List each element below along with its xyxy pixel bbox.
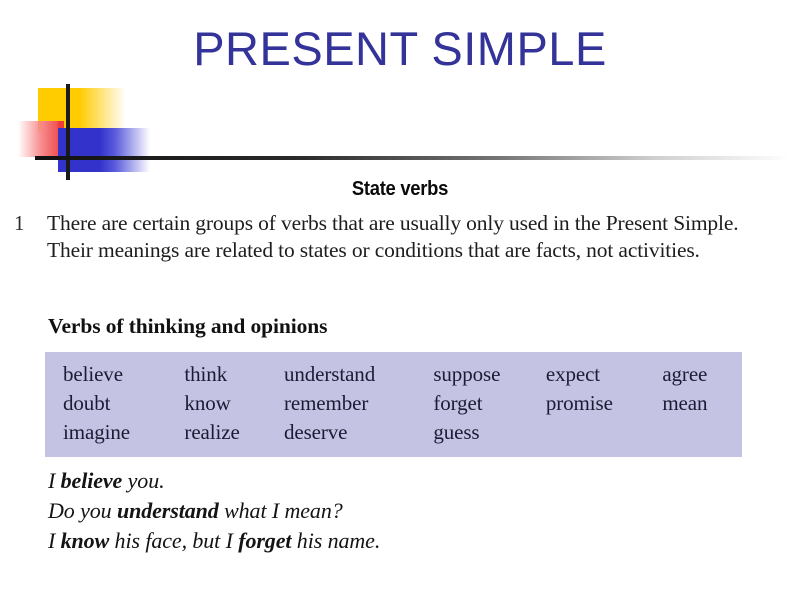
slide-canvas: PRESENT SIMPLE State verbs 1 There are c…: [0, 0, 800, 600]
verb-table: believe think understand suppose expect …: [63, 360, 742, 447]
group-heading: Verbs of thinking and opinions: [48, 314, 327, 339]
section-heading: State verbs: [32, 178, 768, 201]
verb-cell: expect: [546, 360, 662, 389]
verb-cell: promise: [546, 389, 662, 418]
verb-cell: know: [184, 389, 284, 418]
example-sentence-3: I know his face, but I forget his name.: [48, 526, 748, 556]
example-3-verb-2: forget: [238, 528, 291, 553]
deco-horizontal-rule: [35, 156, 790, 160]
intro-paragraph-text: There are certain groups of verbs that a…: [47, 210, 750, 264]
verb-cell: understand: [284, 360, 433, 389]
verb-cell: imagine: [63, 418, 184, 447]
example-3-pre: I: [48, 528, 61, 553]
table-row: doubt know remember forget promise mean: [63, 389, 742, 418]
verb-cell: doubt: [63, 389, 184, 418]
deco-vertical-rule: [66, 84, 70, 180]
verb-cell: realize: [184, 418, 284, 447]
example-1-pre: I: [48, 468, 61, 493]
verb-cell: guess: [433, 418, 546, 447]
example-3-post: his name.: [291, 528, 380, 553]
deco-blue-square: [58, 128, 100, 172]
table-row: imagine realize deserve guess: [63, 418, 742, 447]
example-1-post: you.: [122, 468, 164, 493]
verb-cell: [546, 418, 662, 447]
verb-cell: believe: [63, 360, 184, 389]
verb-cell: deserve: [284, 418, 433, 447]
example-sentences: I believe you. Do you understand what I …: [48, 466, 748, 556]
verb-cell: remember: [284, 389, 433, 418]
example-sentence-2: Do you understand what I mean?: [48, 496, 748, 526]
verb-cell: [662, 418, 742, 447]
table-row: believe think understand suppose expect …: [63, 360, 742, 389]
verb-table-panel: believe think understand suppose expect …: [45, 352, 742, 457]
verb-cell: agree: [662, 360, 742, 389]
example-3-verb: know: [61, 528, 110, 553]
deco-red-square: [18, 121, 62, 157]
verb-cell: forget: [433, 389, 546, 418]
intro-row: 1 There are certain groups of verbs that…: [10, 210, 750, 264]
header-decoration: [0, 78, 800, 186]
deco-yellow-gradient: [80, 88, 126, 132]
example-3-mid: his face, but I: [109, 528, 238, 553]
example-1-verb: believe: [61, 468, 123, 493]
example-2-pre: Do you: [48, 498, 117, 523]
deco-blue-gradient: [100, 128, 150, 172]
verb-cell: think: [184, 360, 284, 389]
example-2-verb: understand: [117, 498, 219, 523]
example-2-post: what I mean?: [219, 498, 343, 523]
intro-paragraph-block: 1 There are certain groups of verbs that…: [10, 210, 750, 264]
example-sentence-1: I believe you.: [48, 466, 748, 496]
page-title: PRESENT SIMPLE: [0, 22, 800, 76]
verb-table-body: believe think understand suppose expect …: [63, 360, 742, 447]
verb-cell: suppose: [433, 360, 546, 389]
intro-list-number: 1: [10, 210, 47, 237]
verb-cell: mean: [662, 389, 742, 418]
